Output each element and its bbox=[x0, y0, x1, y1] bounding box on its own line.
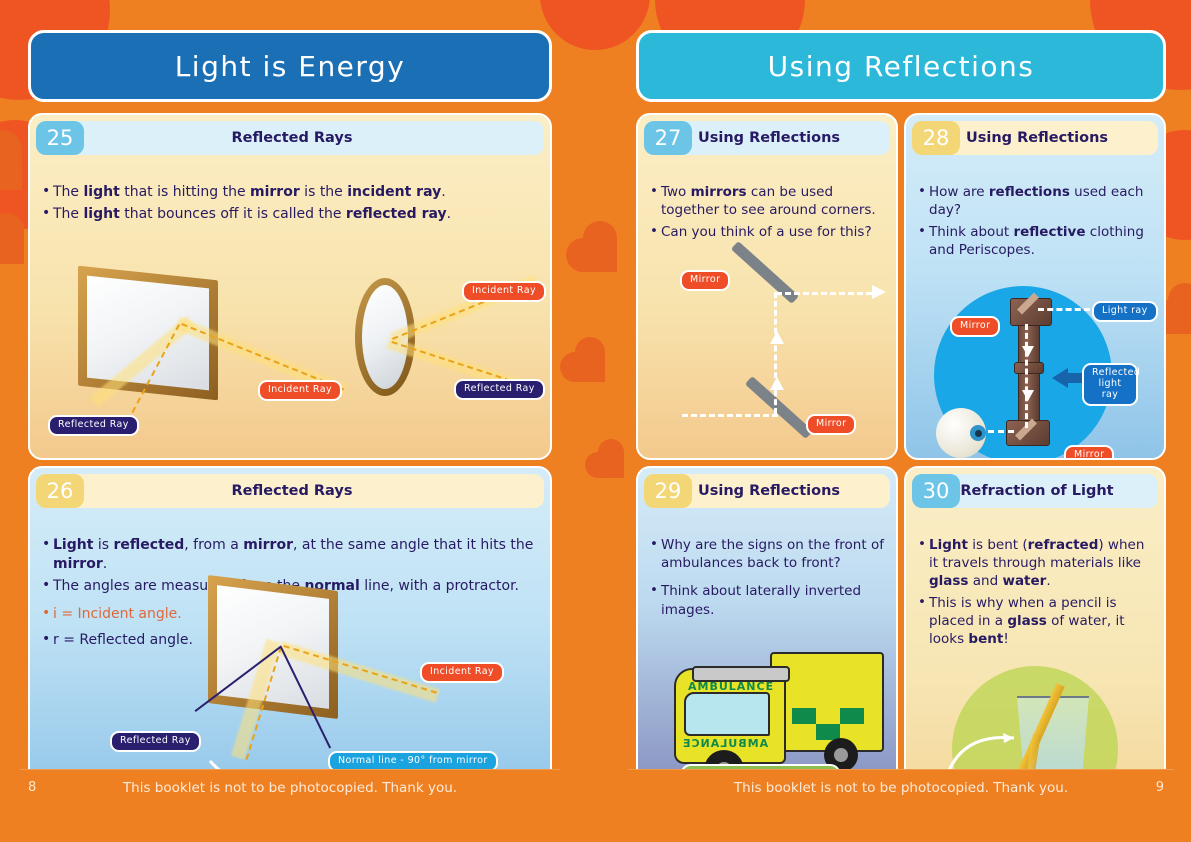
figure-label-incident-ray: Incident Ray bbox=[420, 662, 504, 683]
figure-label-light-ray: Light ray bbox=[1092, 301, 1158, 322]
card-28[interactable]: 28 Using Reflections How are reflections… bbox=[904, 113, 1166, 460]
card-29-title: Using Reflections bbox=[692, 483, 890, 499]
card-26-title: Reflected Rays bbox=[84, 483, 544, 499]
card-row: 26 Reflected Rays Light is reflected, fr… bbox=[28, 466, 552, 813]
card-27-figure: Mirror Mirror bbox=[638, 262, 896, 457]
figure-label-reflected-ray: Reflected Ray bbox=[454, 379, 545, 400]
card-30-bullets: Light is bent (refracted) when it travel… bbox=[906, 530, 1164, 654]
left-page: Light is Energy 25 Reflected Rays The li… bbox=[20, 0, 560, 812]
bullet: The light that is hitting the mirror is … bbox=[42, 183, 538, 202]
bullet: How are reflections used each day? bbox=[918, 183, 1152, 220]
ambulance-windscreen bbox=[684, 692, 770, 736]
left-card-list: 25 Reflected Rays The light that is hitt… bbox=[28, 113, 552, 812]
card-25-header: 25 Reflected Rays bbox=[36, 121, 544, 155]
left-footer-notice: This booklet is not to be photocopied. T… bbox=[20, 780, 560, 796]
bullet: Two mirrors can be used together to see … bbox=[650, 183, 884, 220]
card-row: 25 Reflected Rays The light that is hitt… bbox=[28, 113, 552, 460]
bg-heart bbox=[598, 452, 624, 478]
left-page-title: Light is Energy bbox=[175, 50, 406, 83]
card-27[interactable]: 27 Using Reflections Two mirrors can be … bbox=[636, 113, 898, 460]
ambulance-bonnet-sign-mirrored: AMBULANCE bbox=[682, 737, 768, 750]
right-footer-notice: This booklet is not to be photocopied. T… bbox=[628, 780, 1174, 796]
card-29[interactable]: 29 Using Reflections Why are the signs o… bbox=[636, 466, 898, 813]
card-27-bullets: Two mirrors can be used together to see … bbox=[638, 177, 896, 246]
card-25-number: 25 bbox=[36, 121, 84, 155]
card-28-bullets: How are reflections used each day? Think… bbox=[906, 177, 1164, 264]
card-30-header: 30 Refraction of Light bbox=[912, 474, 1158, 508]
ambulance-roof-sign: AMBULANCE bbox=[688, 680, 774, 693]
card-27-number: 27 bbox=[644, 121, 692, 155]
figure-label-reflected-ray: Reflected Ray bbox=[48, 415, 139, 436]
figure-label-mirror: Mirror bbox=[806, 414, 856, 435]
right-page-number: 9 bbox=[1156, 780, 1164, 795]
figure-label-incident-ray: Incident Ray bbox=[462, 281, 546, 302]
bullet: This is why when a pencil is placed in a… bbox=[918, 594, 1152, 649]
figure-label-reflected-ray: Reflected Ray bbox=[110, 731, 201, 752]
bullet: Why are the signs on the front of ambula… bbox=[650, 536, 884, 573]
bullet: The light that bounces off it is called … bbox=[42, 205, 538, 224]
left-footer: 8 This booklet is not to be photocopied.… bbox=[20, 769, 560, 812]
ambulance-checker bbox=[840, 708, 864, 724]
card-25-figure: Incident Ray Incident Ray Reflected Ray … bbox=[30, 245, 550, 457]
right-card-list: 27 Using Reflections Two mirrors can be … bbox=[636, 113, 1166, 812]
card-30-title: Refraction of Light bbox=[960, 483, 1158, 499]
bullet: Light is bent (refracted) when it travel… bbox=[918, 536, 1152, 591]
card-27-header: 27 Using Reflections bbox=[644, 121, 890, 155]
right-page: Using Reflections 27 Using Reflections T… bbox=[628, 0, 1174, 812]
ambulance-checker bbox=[792, 708, 816, 724]
card-26-header: 26 Reflected Rays bbox=[36, 474, 544, 508]
figure-label-mirror: Mirror bbox=[1064, 445, 1114, 459]
card-29-bullets: Why are the signs on the front of ambula… bbox=[638, 530, 896, 624]
card-29-header: 29 Using Reflections bbox=[644, 474, 890, 508]
card-25[interactable]: 25 Reflected Rays The light that is hitt… bbox=[28, 113, 552, 460]
card-29-number: 29 bbox=[644, 474, 692, 508]
card-26[interactable]: 26 Reflected Rays Light is reflected, fr… bbox=[28, 466, 552, 813]
card-25-bullets: The light that is hitting the mirror is … bbox=[30, 177, 550, 229]
ray-arrowheads-icon bbox=[638, 262, 896, 457]
bg-heart bbox=[0, 150, 22, 190]
left-page-banner: Light is Energy bbox=[28, 30, 552, 102]
figure-label-mirror: Mirror bbox=[680, 270, 730, 291]
bg-heart bbox=[575, 352, 605, 382]
card-27-title: Using Reflections bbox=[692, 130, 890, 146]
card-28-number: 28 bbox=[912, 121, 960, 155]
card-28-figure: Light ray Mirror Reflected light ray Mir… bbox=[906, 280, 1164, 457]
card-30[interactable]: 30 Refraction of Light Light is bent (re… bbox=[904, 466, 1166, 813]
right-page-banner: Using Reflections bbox=[636, 30, 1166, 102]
card-row: 27 Using Reflections Two mirrors can be … bbox=[636, 113, 1166, 460]
card-28-title: Using Reflections bbox=[960, 130, 1158, 146]
figure-label-mirror: Mirror bbox=[950, 316, 1000, 337]
right-page-title: Using Reflections bbox=[768, 50, 1035, 83]
bullet: Think about reflective clothing and Peri… bbox=[918, 223, 1152, 260]
figure-label-incident-ray: Incident Ray bbox=[258, 380, 342, 401]
bullet: Light is reflected, from a mirror, at th… bbox=[42, 536, 538, 574]
card-28-header: 28 Using Reflections bbox=[912, 121, 1158, 155]
card-26-number: 26 bbox=[36, 474, 84, 508]
wheel-hub bbox=[834, 748, 848, 762]
bullet: Think about laterally inverted images. bbox=[650, 582, 884, 619]
card-25-title: Reflected Rays bbox=[84, 130, 544, 146]
figure-label-reflected-light-ray: Reflected light ray bbox=[1082, 363, 1138, 406]
bullet: Can you think of a use for this? bbox=[650, 223, 884, 241]
right-footer: This booklet is not to be photocopied. T… bbox=[628, 769, 1174, 812]
card-row: 29 Using Reflections Why are the signs o… bbox=[636, 466, 1166, 813]
bg-heart bbox=[583, 238, 617, 272]
card-30-number: 30 bbox=[912, 474, 960, 508]
